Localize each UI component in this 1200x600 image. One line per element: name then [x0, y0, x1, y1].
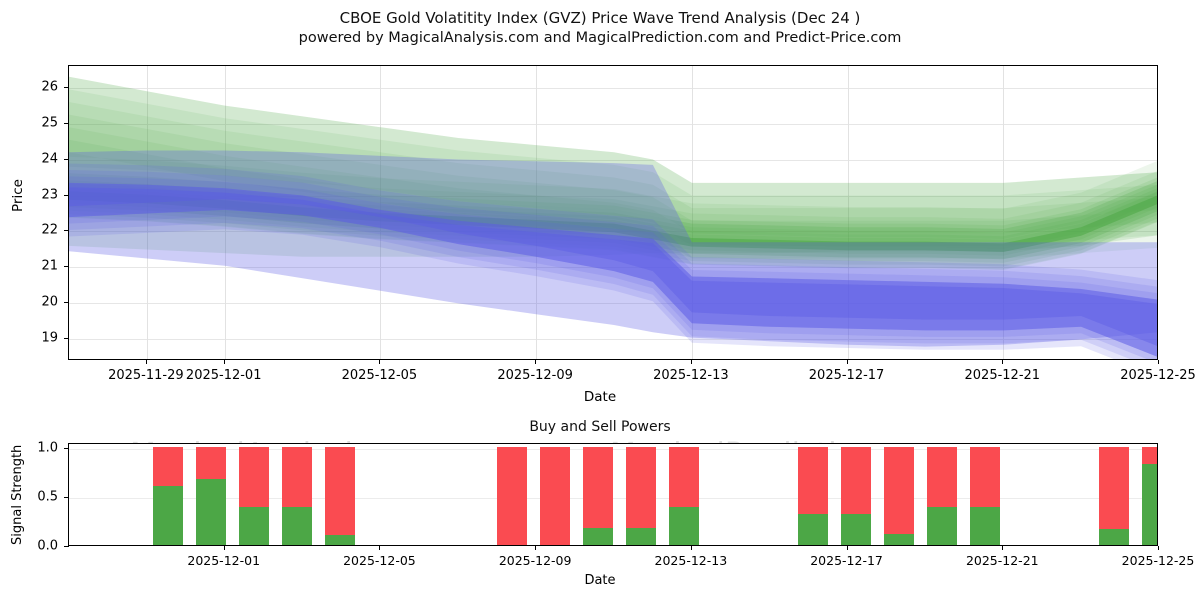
price-x-tick-mark — [535, 360, 536, 364]
signal-x-tick-mark — [535, 546, 536, 550]
price-y-tick-label: 19 — [28, 331, 58, 346]
signal-strength-bar[interactable] — [325, 447, 355, 545]
chart-title-block: CBOE Gold Volatitity Index (GVZ) Price W… — [0, 8, 1200, 48]
buy-power-segment — [1142, 464, 1158, 545]
buy-sell-x-axis-label: Date — [0, 573, 1200, 588]
sell-power-segment — [884, 447, 914, 534]
price-x-tick-mark — [1002, 360, 1003, 364]
price-x-tick-mark — [146, 360, 147, 364]
sell-power-segment — [841, 447, 871, 514]
price-x-tick-mark — [691, 360, 692, 364]
signal-x-tick-label: 2025-12-09 — [499, 553, 572, 568]
buy-power-segment — [1099, 529, 1129, 545]
price-x-tick-label: 2025-12-25 — [1120, 368, 1196, 383]
price-x-tick-mark — [224, 360, 225, 364]
price-x-tick-mark — [847, 360, 848, 364]
price-x-tick-label: 2025-12-13 — [653, 368, 729, 383]
buy-power-segment — [626, 528, 656, 545]
buy-power-segment — [884, 534, 914, 545]
signal-strength-bar[interactable] — [153, 447, 183, 545]
signal-x-tick-mark — [224, 546, 225, 550]
signal-strength-bar[interactable] — [841, 447, 871, 545]
signal-x-tick-mark — [1002, 546, 1003, 550]
signal-y-tick-label: 1.0 — [26, 440, 58, 455]
buy-sell-y-axis-label: Signal Strength — [10, 445, 25, 545]
signal-strength-bar[interactable] — [239, 447, 269, 545]
sell-power-segment — [927, 447, 957, 507]
price-y-tick-mark — [64, 338, 69, 339]
signal-y-tick-label: 0.5 — [26, 489, 58, 504]
price-x-tick-label: 2025-12-21 — [965, 368, 1041, 383]
signal-x-tick-mark — [1158, 546, 1159, 550]
sell-power-segment — [196, 447, 226, 479]
sell-power-segment — [1099, 447, 1129, 529]
page-title: CBOE Gold Volatitity Index (GVZ) Price W… — [0, 8, 1200, 28]
signal-strength-bar[interactable] — [583, 447, 613, 545]
signal-x-tick-mark — [847, 546, 848, 550]
page-subtitle: powered by MagicalAnalysis.com and Magic… — [0, 28, 1200, 48]
signal-x-tick-label: 2025-12-21 — [966, 553, 1039, 568]
chart-page: CBOE Gold Volatitity Index (GVZ) Price W… — [0, 0, 1200, 600]
signal-x-tick-mark — [379, 546, 380, 550]
price-x-tick-label: 2025-12-05 — [342, 368, 418, 383]
signal-y-tick-mark — [64, 448, 69, 449]
buy-power-segment — [798, 514, 828, 545]
buy-power-segment — [282, 507, 312, 545]
sell-power-segment — [669, 447, 699, 507]
price-chart-x-axis-label: Date — [0, 389, 1200, 405]
sell-power-segment — [798, 447, 828, 514]
price-x-tick-label: 2025-12-01 — [186, 368, 262, 383]
signal-strength-bar[interactable] — [540, 447, 570, 545]
signal-strength-bar[interactable] — [196, 447, 226, 545]
signal-x-tick-label: 2025-12-13 — [655, 553, 728, 568]
sell-power-segment — [626, 447, 656, 528]
sell-power-segment — [325, 447, 355, 535]
sell-power-segment — [239, 447, 269, 507]
price-x-tick-label: 2025-12-09 — [497, 368, 573, 383]
buy-power-segment — [239, 507, 269, 545]
price-y-tick-label: 20 — [28, 295, 58, 310]
price-y-tick-mark — [64, 266, 69, 267]
signal-strength-bar[interactable] — [970, 447, 1000, 545]
price-x-tick-label: 2025-12-17 — [809, 368, 885, 383]
price-x-tick-mark — [1158, 360, 1159, 364]
price-x-tick-label: 2025-11-29 — [108, 368, 184, 383]
signal-strength-bar[interactable] — [282, 447, 312, 545]
price-y-tick-mark — [64, 195, 69, 196]
sell-power-segment — [282, 447, 312, 507]
buy-power-segment — [927, 507, 957, 545]
price-wave-bands — [69, 66, 1158, 360]
price-y-tick-mark — [64, 87, 69, 88]
price-y-tick-label: 24 — [28, 151, 58, 166]
buy-sell-powers-title: Buy and Sell Powers — [0, 419, 1200, 435]
price-y-tick-label: 26 — [28, 79, 58, 94]
signal-y-tick-mark — [64, 546, 69, 547]
price-y-tick-mark — [64, 302, 69, 303]
buy-power-segment — [325, 535, 355, 545]
signal-strength-bar[interactable] — [884, 447, 914, 545]
signal-strength-bar[interactable] — [798, 447, 828, 545]
price-y-tick-mark — [64, 123, 69, 124]
price-y-tick-mark — [64, 230, 69, 231]
signal-x-tick-label: 2025-12-05 — [343, 553, 416, 568]
price-chart-y-axis-label: Price — [10, 179, 26, 212]
signal-x-tick-label: 2025-12-17 — [810, 553, 883, 568]
price-x-tick-mark — [379, 360, 380, 364]
buy-sell-powers-plot-area — [68, 443, 1158, 546]
signal-y-tick-mark — [64, 497, 69, 498]
buy-power-segment — [196, 479, 226, 545]
sell-power-segment — [540, 447, 570, 545]
price-y-tick-label: 22 — [28, 223, 58, 238]
signal-y-tick-label: 0.0 — [26, 539, 58, 554]
signal-x-tick-label: 2025-12-25 — [1122, 553, 1195, 568]
sell-power-segment — [583, 447, 613, 528]
signal-strength-bar[interactable] — [927, 447, 957, 545]
signal-strength-bar[interactable] — [669, 447, 699, 545]
signal-x-tick-mark — [691, 546, 692, 550]
price-wave-chart-plot-area — [68, 65, 1158, 360]
sell-power-segment — [153, 447, 183, 486]
buy-power-segment — [153, 486, 183, 545]
sell-power-segment — [1142, 447, 1158, 464]
sell-power-segment — [497, 447, 527, 545]
signal-strength-bar[interactable] — [626, 447, 656, 545]
price-y-tick-label: 25 — [28, 115, 58, 130]
buy-power-segment — [970, 507, 1000, 545]
price-y-tick-label: 23 — [28, 187, 58, 202]
signal-strength-bar[interactable] — [1099, 447, 1129, 545]
price-y-tick-mark — [64, 159, 69, 160]
buy-power-segment — [669, 507, 699, 545]
signal-x-tick-label: 2025-12-01 — [187, 553, 260, 568]
price-y-tick-label: 21 — [28, 259, 58, 274]
sell-power-segment — [970, 447, 1000, 507]
buy-power-segment — [841, 514, 871, 545]
signal-strength-bar[interactable] — [497, 447, 527, 545]
signal-strength-bar[interactable] — [1142, 447, 1158, 545]
buy-power-segment — [583, 528, 613, 545]
